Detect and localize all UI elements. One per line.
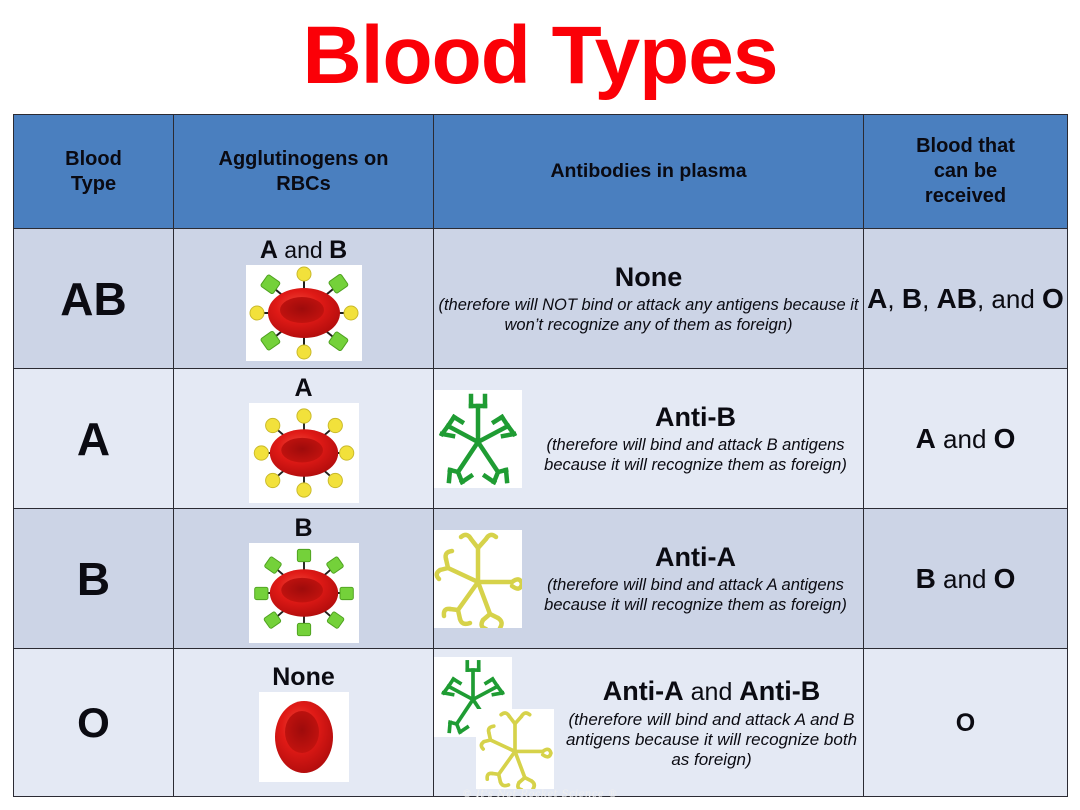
received-part: AB xyxy=(937,283,977,314)
agglutinogen-label: A and B xyxy=(260,236,347,264)
page-title: Blood Types xyxy=(0,8,1080,104)
cell-blood-type: B xyxy=(14,509,174,649)
header-line-2: Type xyxy=(71,173,116,195)
agglutinogen-label: B xyxy=(294,514,312,542)
header-line-2: RBCs xyxy=(276,173,330,195)
agglutinogen-part-and: and xyxy=(278,237,329,263)
agglutinogen-part-b: B xyxy=(329,236,347,264)
antibody-title: Anti-B xyxy=(528,402,863,433)
header-line-1: Blood xyxy=(65,148,122,170)
table-header: Blood Type Agglutinogens on RBCs Antibod… xyxy=(14,115,1068,229)
received-sep: , xyxy=(922,284,936,314)
received-part: O xyxy=(1042,283,1064,314)
column-header-received: Blood that can be received xyxy=(864,115,1068,229)
table-row: AB A and B xyxy=(14,229,1068,369)
cell-blood-received: A and O xyxy=(864,369,1068,509)
received-part: O xyxy=(956,709,975,737)
agglutinogen-part-none: None xyxy=(272,663,335,691)
cell-blood-type: O xyxy=(14,649,174,797)
antibody-icon-group xyxy=(434,657,554,789)
rbc-o-icon xyxy=(259,692,349,782)
antibody-title: None xyxy=(434,262,863,293)
antibody-title: Anti-A and Anti-B xyxy=(560,676,863,708)
antibody-title-part: None xyxy=(615,262,683,292)
cell-antibodies: Anti-B (therefore will bind and attack B… xyxy=(434,369,864,509)
antibody-title-part: Anti-B xyxy=(655,402,736,432)
antibody-note: (therefore will NOT bind or attack any a… xyxy=(434,295,863,335)
antibody-title: Anti-A xyxy=(528,542,863,573)
cell-antibodies: Anti-A and Anti-B (therefore will bind a… xyxy=(434,649,864,797)
rbc-ab-icon xyxy=(246,265,362,361)
antibody-yellow-icon xyxy=(434,530,522,628)
antibody-title-sep: and xyxy=(684,678,740,706)
received-part: O xyxy=(994,563,1016,594)
rbc-a-icon xyxy=(249,403,359,503)
antibody-green-icon xyxy=(434,390,522,488)
agglutinogen-part-b: B xyxy=(294,514,312,542)
footer-credit: © It's Not Rocket Science ® xyxy=(0,789,1080,800)
received-part: B xyxy=(916,563,936,594)
table-row: A A xyxy=(14,369,1068,509)
table-row: O None xyxy=(14,649,1068,797)
cell-blood-received: A, B, AB, and O xyxy=(864,229,1068,369)
column-header-antibodies: Antibodies in plasma xyxy=(434,115,864,229)
cell-antibodies: Anti-A (therefore will bind and attack A… xyxy=(434,509,864,649)
antibody-yellow-icon xyxy=(476,709,554,789)
agglutinogen-part-a: A xyxy=(294,374,312,402)
agglutinogen-part-a: A xyxy=(260,236,278,264)
cell-antibodies: None (therefore will NOT bind or attack … xyxy=(434,229,864,369)
table-body: AB A and B xyxy=(14,229,1068,797)
blood-types-table: Blood Type Agglutinogens on RBCs Antibod… xyxy=(13,114,1068,797)
received-part: O xyxy=(994,423,1016,454)
received-part: A xyxy=(867,283,887,314)
received-part: B xyxy=(902,283,922,314)
received-sep: , xyxy=(887,284,901,314)
agglutinogen-label: A xyxy=(294,374,312,402)
cell-agglutinogens: A and B xyxy=(174,229,434,369)
antibody-note: (therefore will bind and attack A antige… xyxy=(528,575,863,615)
antibody-note: (therefore will bind and attack B antige… xyxy=(528,435,863,475)
header-line-3: received xyxy=(925,185,1006,207)
received-sep: and xyxy=(936,564,994,594)
header-line-1: Blood that xyxy=(916,135,1015,157)
received-sep: and xyxy=(936,424,994,454)
rbc-b-icon xyxy=(249,543,359,643)
cell-blood-received: O xyxy=(864,649,1068,797)
agglutinogen-label: None xyxy=(272,663,335,691)
column-header-blood-type: Blood Type xyxy=(14,115,174,229)
header-line-1: Agglutinogens on xyxy=(219,148,389,170)
antibody-note: (therefore will bind and attack A and B … xyxy=(560,710,863,770)
cell-blood-type: A xyxy=(14,369,174,509)
received-sep: , and xyxy=(977,284,1042,314)
antibody-title-part: Anti-A xyxy=(603,676,684,706)
column-header-agglutinogens: Agglutinogens on RBCs xyxy=(174,115,434,229)
cell-blood-type: AB xyxy=(14,229,174,369)
antibody-title-part: Anti-A xyxy=(655,542,736,572)
cell-blood-received: B and O xyxy=(864,509,1068,649)
table-row: B B xyxy=(14,509,1068,649)
antibody-title-part: Anti-B xyxy=(739,676,820,706)
cell-agglutinogens: B xyxy=(174,509,434,649)
header-row: Blood Type Agglutinogens on RBCs Antibod… xyxy=(14,115,1068,229)
cell-agglutinogens: A xyxy=(174,369,434,509)
received-part: A xyxy=(916,423,936,454)
header-line-2: can be xyxy=(934,160,997,182)
cell-agglutinogens: None xyxy=(174,649,434,797)
